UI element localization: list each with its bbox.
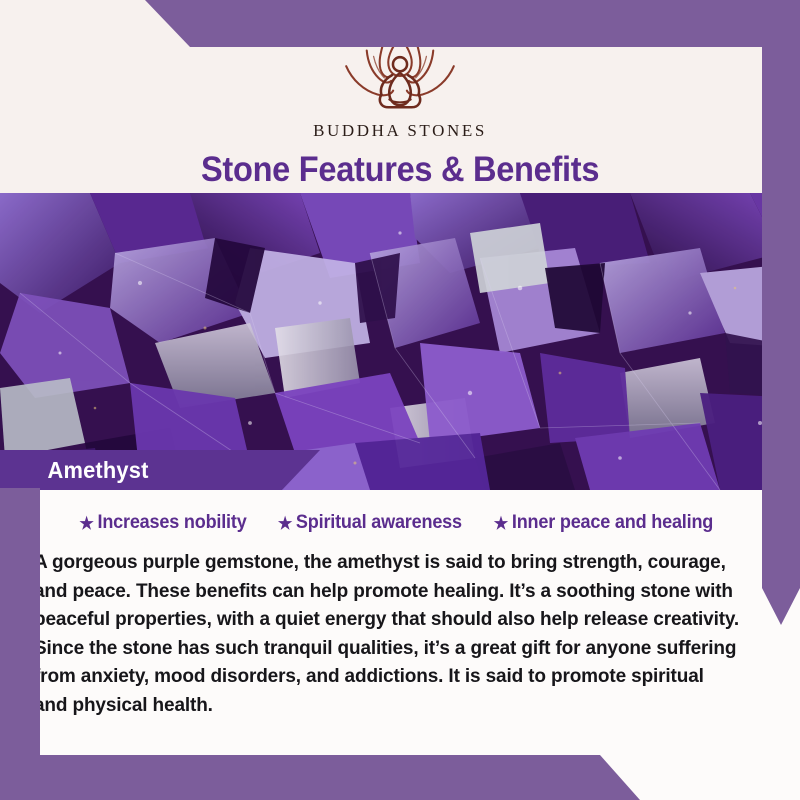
star-icon: ★ xyxy=(494,515,508,532)
benefit-label: Inner peace and healing xyxy=(512,512,713,534)
brand-name: BUDDHA STONES xyxy=(313,121,487,141)
stone-name-banner: Amethyst xyxy=(0,450,320,490)
benefit-label: Spiritual awareness xyxy=(296,512,462,534)
stone-name: Amethyst xyxy=(0,457,149,484)
page-title-band: Stone Features & Benefits xyxy=(0,147,800,193)
benefit-label: Increases nobility xyxy=(97,512,246,534)
benefits-list: ★ Increases nobility ★ Spiritual awarene… xyxy=(34,512,760,534)
star-icon: ★ xyxy=(79,515,93,532)
product-info-card: BUDDHA STONES Stone Features & Benefits xyxy=(0,0,800,800)
star-icon: ★ xyxy=(278,515,292,532)
page-title: Stone Features & Benefits xyxy=(201,150,599,190)
crystal-texture-graphic xyxy=(0,193,800,490)
amethyst-hero-image: Amethyst xyxy=(0,193,800,490)
frame-band-left xyxy=(0,488,40,800)
frame-band-right xyxy=(762,0,800,625)
stone-details-section: ★ Increases nobility ★ Spiritual awarene… xyxy=(0,490,800,800)
stone-description: A gorgeous purple gemstone, the amethyst… xyxy=(34,548,742,719)
benefit-item-3: ★ Inner peace and healing xyxy=(494,512,713,534)
benefit-item-2: ★ Spiritual awareness xyxy=(278,512,462,534)
benefit-item-1: ★ Increases nobility xyxy=(79,512,246,534)
